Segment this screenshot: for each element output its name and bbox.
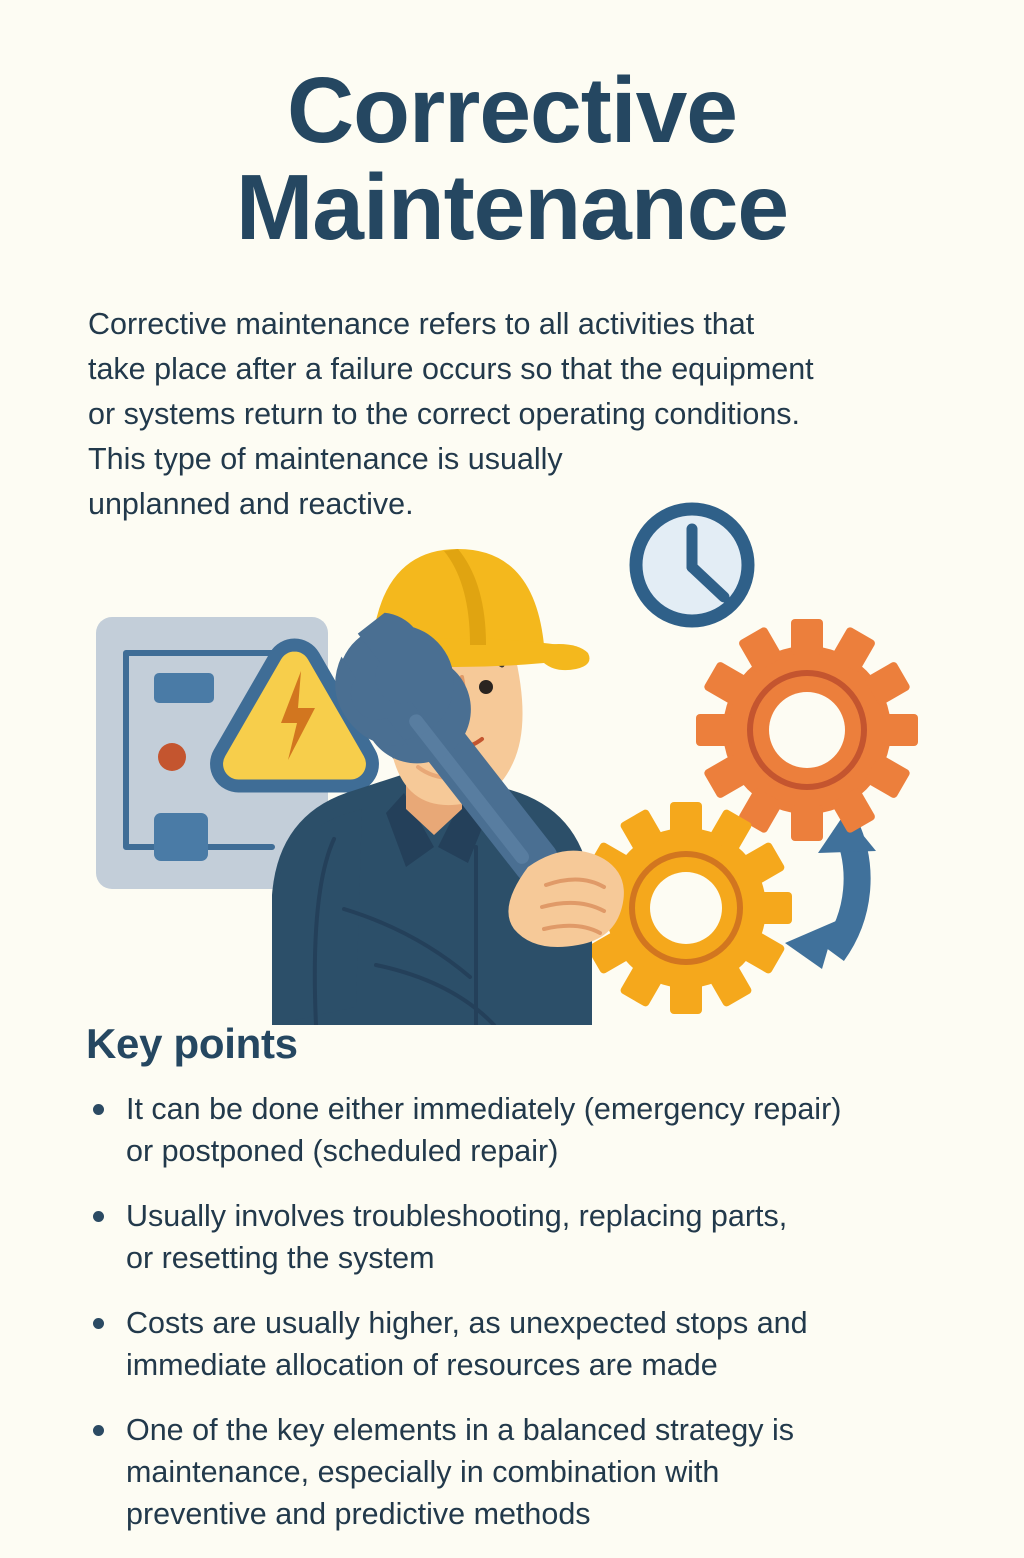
list-item-text: Usually involves troubleshooting, replac… [126, 1195, 966, 1279]
orange-gear-icon [696, 619, 918, 841]
list-item-line: Costs are usually higher, as unexpected … [126, 1302, 966, 1344]
list-item-line: It can be done either immediately (emerg… [126, 1088, 966, 1130]
intro-line-3: or systems return to the correct operati… [88, 392, 968, 437]
list-item-text: Costs are usually higher, as unexpected … [126, 1302, 966, 1386]
list-item: Costs are usually higher, as unexpected … [86, 1302, 966, 1386]
page-title: Corrective Maintenance [0, 62, 1024, 255]
list-item-line: One of the key elements in a balanced st… [126, 1409, 966, 1451]
list-item: It can be done either immediately (emerg… [86, 1088, 966, 1172]
bullet-dot-icon [93, 1318, 104, 1329]
list-item-line: maintenance, especially in combination w… [126, 1451, 966, 1493]
list-item-text: One of the key elements in a balanced st… [126, 1409, 966, 1535]
list-item: Usually involves troubleshooting, replac… [86, 1195, 966, 1279]
list-item-text: It can be done either immediately (emerg… [126, 1088, 966, 1172]
title-line-2: Maintenance [60, 159, 964, 256]
key-points-list: It can be done either immediately (emerg… [86, 1088, 966, 1558]
list-item-line: or postponed (scheduled repair) [126, 1130, 966, 1172]
bullet-dot-icon [93, 1211, 104, 1222]
list-item-line: preventive and predictive methods [126, 1493, 966, 1535]
list-item: One of the key elements in a balanced st… [86, 1409, 966, 1535]
intro-line-1: Corrective maintenance refers to all act… [88, 302, 968, 347]
intro-paragraph: Corrective maintenance refers to all act… [88, 302, 968, 527]
list-item-line: Usually involves troubleshooting, replac… [126, 1195, 966, 1237]
infographic-poster: Corrective Maintenance Corrective mainte… [0, 0, 1024, 1536]
key-points-heading: Key points [86, 1020, 298, 1068]
bullet-dot-icon [93, 1425, 104, 1436]
maintenance-illustration [76, 495, 956, 1025]
list-item-line: or resetting the system [126, 1237, 966, 1279]
bullet-dot-icon [93, 1104, 104, 1115]
intro-line-4: This type of maintenance is usually [88, 437, 968, 482]
clock-icon [636, 509, 748, 621]
title-line-1: Corrective [60, 62, 964, 159]
intro-line-2: take place after a failure occurs so tha… [88, 347, 968, 392]
list-item-line: immediate allocation of resources are ma… [126, 1344, 966, 1386]
